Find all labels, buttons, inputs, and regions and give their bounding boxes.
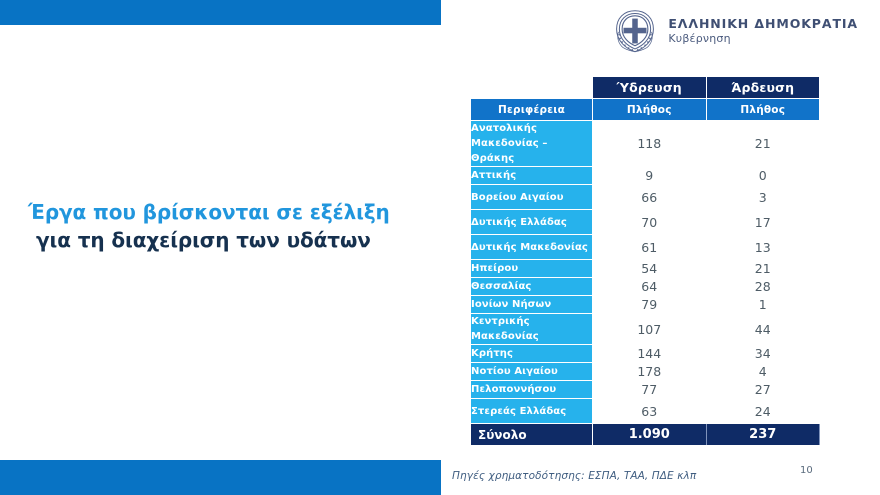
cell-ydrefsi-count: 66 [593,185,707,210]
group-header-ydrefsi: Ύδρευση [593,77,707,99]
cell-region: Θεσσαλίας [471,278,593,296]
cell-region: Στερεάς Ελλάδας [471,399,593,424]
table-row: Ηπείρου5421 [471,260,820,278]
cell-ardefsi-count: 34 [706,345,820,363]
column-header-region: Περιφέρεια [471,99,593,121]
table-row: Βορείου Αιγαίου663 [471,185,820,210]
cell-region: Αττικής [471,167,593,185]
table-row: Πελοποννήσου7727 [471,381,820,399]
page-title: Έργα που βρίσκονται σε εξέλιξη για τη δι… [28,200,428,252]
table-row: Δυτικής Ελλάδας7017 [471,210,820,235]
slide-root: ΕΛΛΗΝΙΚΗ ΔΗΜΟΚΡΑΤΙΑ Κυβέρνηση Έργα που β… [0,0,880,495]
column-header-count-ardefsi: Πλήθος [706,99,820,121]
table-total-row: Σύνολο 1.090 237 [471,424,820,446]
table-row: Νοτίου Αιγαίου1784 [471,363,820,381]
cell-ydrefsi-count: 64 [593,278,707,296]
bottom-accent-bar [0,460,441,495]
cell-ydrefsi-count: 118 [593,121,707,167]
headline-line-2: για τη διαχείριση των υδάτων [28,228,428,252]
cell-region: Δυτικής Μακεδονίας [471,235,593,260]
table-row: Θεσσαλίας6428 [471,278,820,296]
cell-region: ΑνατολικήςΜακεδονίας – Θράκης [471,121,593,167]
cell-region: Νοτίου Αιγαίου [471,363,593,381]
headline-line-1: Έργα που βρίσκονται σε εξέλιξη [28,200,428,224]
brand-title: ΕΛΛΗΝΙΚΗ ΔΗΜΟΚΡΑΤΙΑ [668,16,858,32]
cell-ardefsi-count: 1 [706,296,820,314]
cell-region: Βορείου Αιγαίου [471,185,593,210]
table-row: ΑνατολικήςΜακεδονίας – Θράκης11821 [471,121,820,167]
cell-region: Ηπείρου [471,260,593,278]
region-line-2: Μακεδονίας – Θράκης [471,136,592,166]
cell-ardefsi-count: 13 [706,235,820,260]
cell-ardefsi-count: 0 [706,167,820,185]
cell-ardefsi-count: 21 [706,121,820,167]
total-ydrefsi: 1.090 [593,424,707,446]
cell-ardefsi-count: 4 [706,363,820,381]
brand-subtitle: Κυβέρνηση [668,32,858,46]
cell-ardefsi-count: 28 [706,278,820,296]
cell-ardefsi-count: 44 [706,314,820,345]
table-row: Δυτικής Μακεδονίας6113 [471,235,820,260]
group-header-ardefsi: Άρδευση [706,77,820,99]
cell-region: Ιονίων Νήσων [471,296,593,314]
cell-ydrefsi-count: 79 [593,296,707,314]
cell-region: Πελοποννήσου [471,381,593,399]
region-line-1: Ανατολικής [471,121,592,136]
table-body: ΑνατολικήςΜακεδονίας – Θράκης11821Αττική… [471,121,820,424]
cell-region: Κρήτης [471,345,593,363]
cell-ardefsi-count: 3 [706,185,820,210]
total-ardefsi: 237 [706,424,820,446]
cell-ydrefsi-count: 54 [593,260,707,278]
cell-ydrefsi-count: 63 [593,399,707,424]
cell-ydrefsi-count: 61 [593,235,707,260]
cell-ydrefsi-count: 77 [593,381,707,399]
group-header-blank [471,77,593,99]
cell-ydrefsi-count: 107 [593,314,707,345]
table-column-header-row: Περιφέρεια Πλήθος Πλήθος [471,99,820,121]
table-row: Κεντρικής Μακεδονίας10744 [471,314,820,345]
cell-ydrefsi-count: 144 [593,345,707,363]
greek-coat-of-arms-icon [612,8,658,54]
table-row: Στερεάς Ελλάδας6324 [471,399,820,424]
table-group-header-row: Ύδρευση Άρδευση [471,77,820,99]
page-number: 10 [800,465,813,476]
column-header-count-ydrefsi: Πλήθος [593,99,707,121]
total-label: Σύνολο [471,424,593,446]
cell-ydrefsi-count: 70 [593,210,707,235]
cell-ydrefsi-count: 178 [593,363,707,381]
table-row: Κρήτης14434 [471,345,820,363]
table-row: Ιονίων Νήσων791 [471,296,820,314]
cell-ydrefsi-count: 9 [593,167,707,185]
cell-region: Δυτικής Ελλάδας [471,210,593,235]
table: Ύδρευση Άρδευση Περιφέρεια Πλήθος Πλήθος… [470,76,820,446]
top-accent-bar [0,0,441,25]
table-row: Αττικής90 [471,167,820,185]
cell-ardefsi-count: 17 [706,210,820,235]
cell-ardefsi-count: 27 [706,381,820,399]
cell-ardefsi-count: 24 [706,399,820,424]
cell-region: Κεντρικής Μακεδονίας [471,314,593,345]
funding-sources-note: Πηγές χρηματοδότησης: ΕΣΠΑ, ΤΑΑ, ΠΔΕ κλπ [452,470,696,482]
water-projects-table: Ύδρευση Άρδευση Περιφέρεια Πλήθος Πλήθος… [470,76,819,446]
cell-ardefsi-count: 21 [706,260,820,278]
brand-logo: ΕΛΛΗΝΙΚΗ ΔΗΜΟΚΡΑΤΙΑ Κυβέρνηση [612,8,858,54]
